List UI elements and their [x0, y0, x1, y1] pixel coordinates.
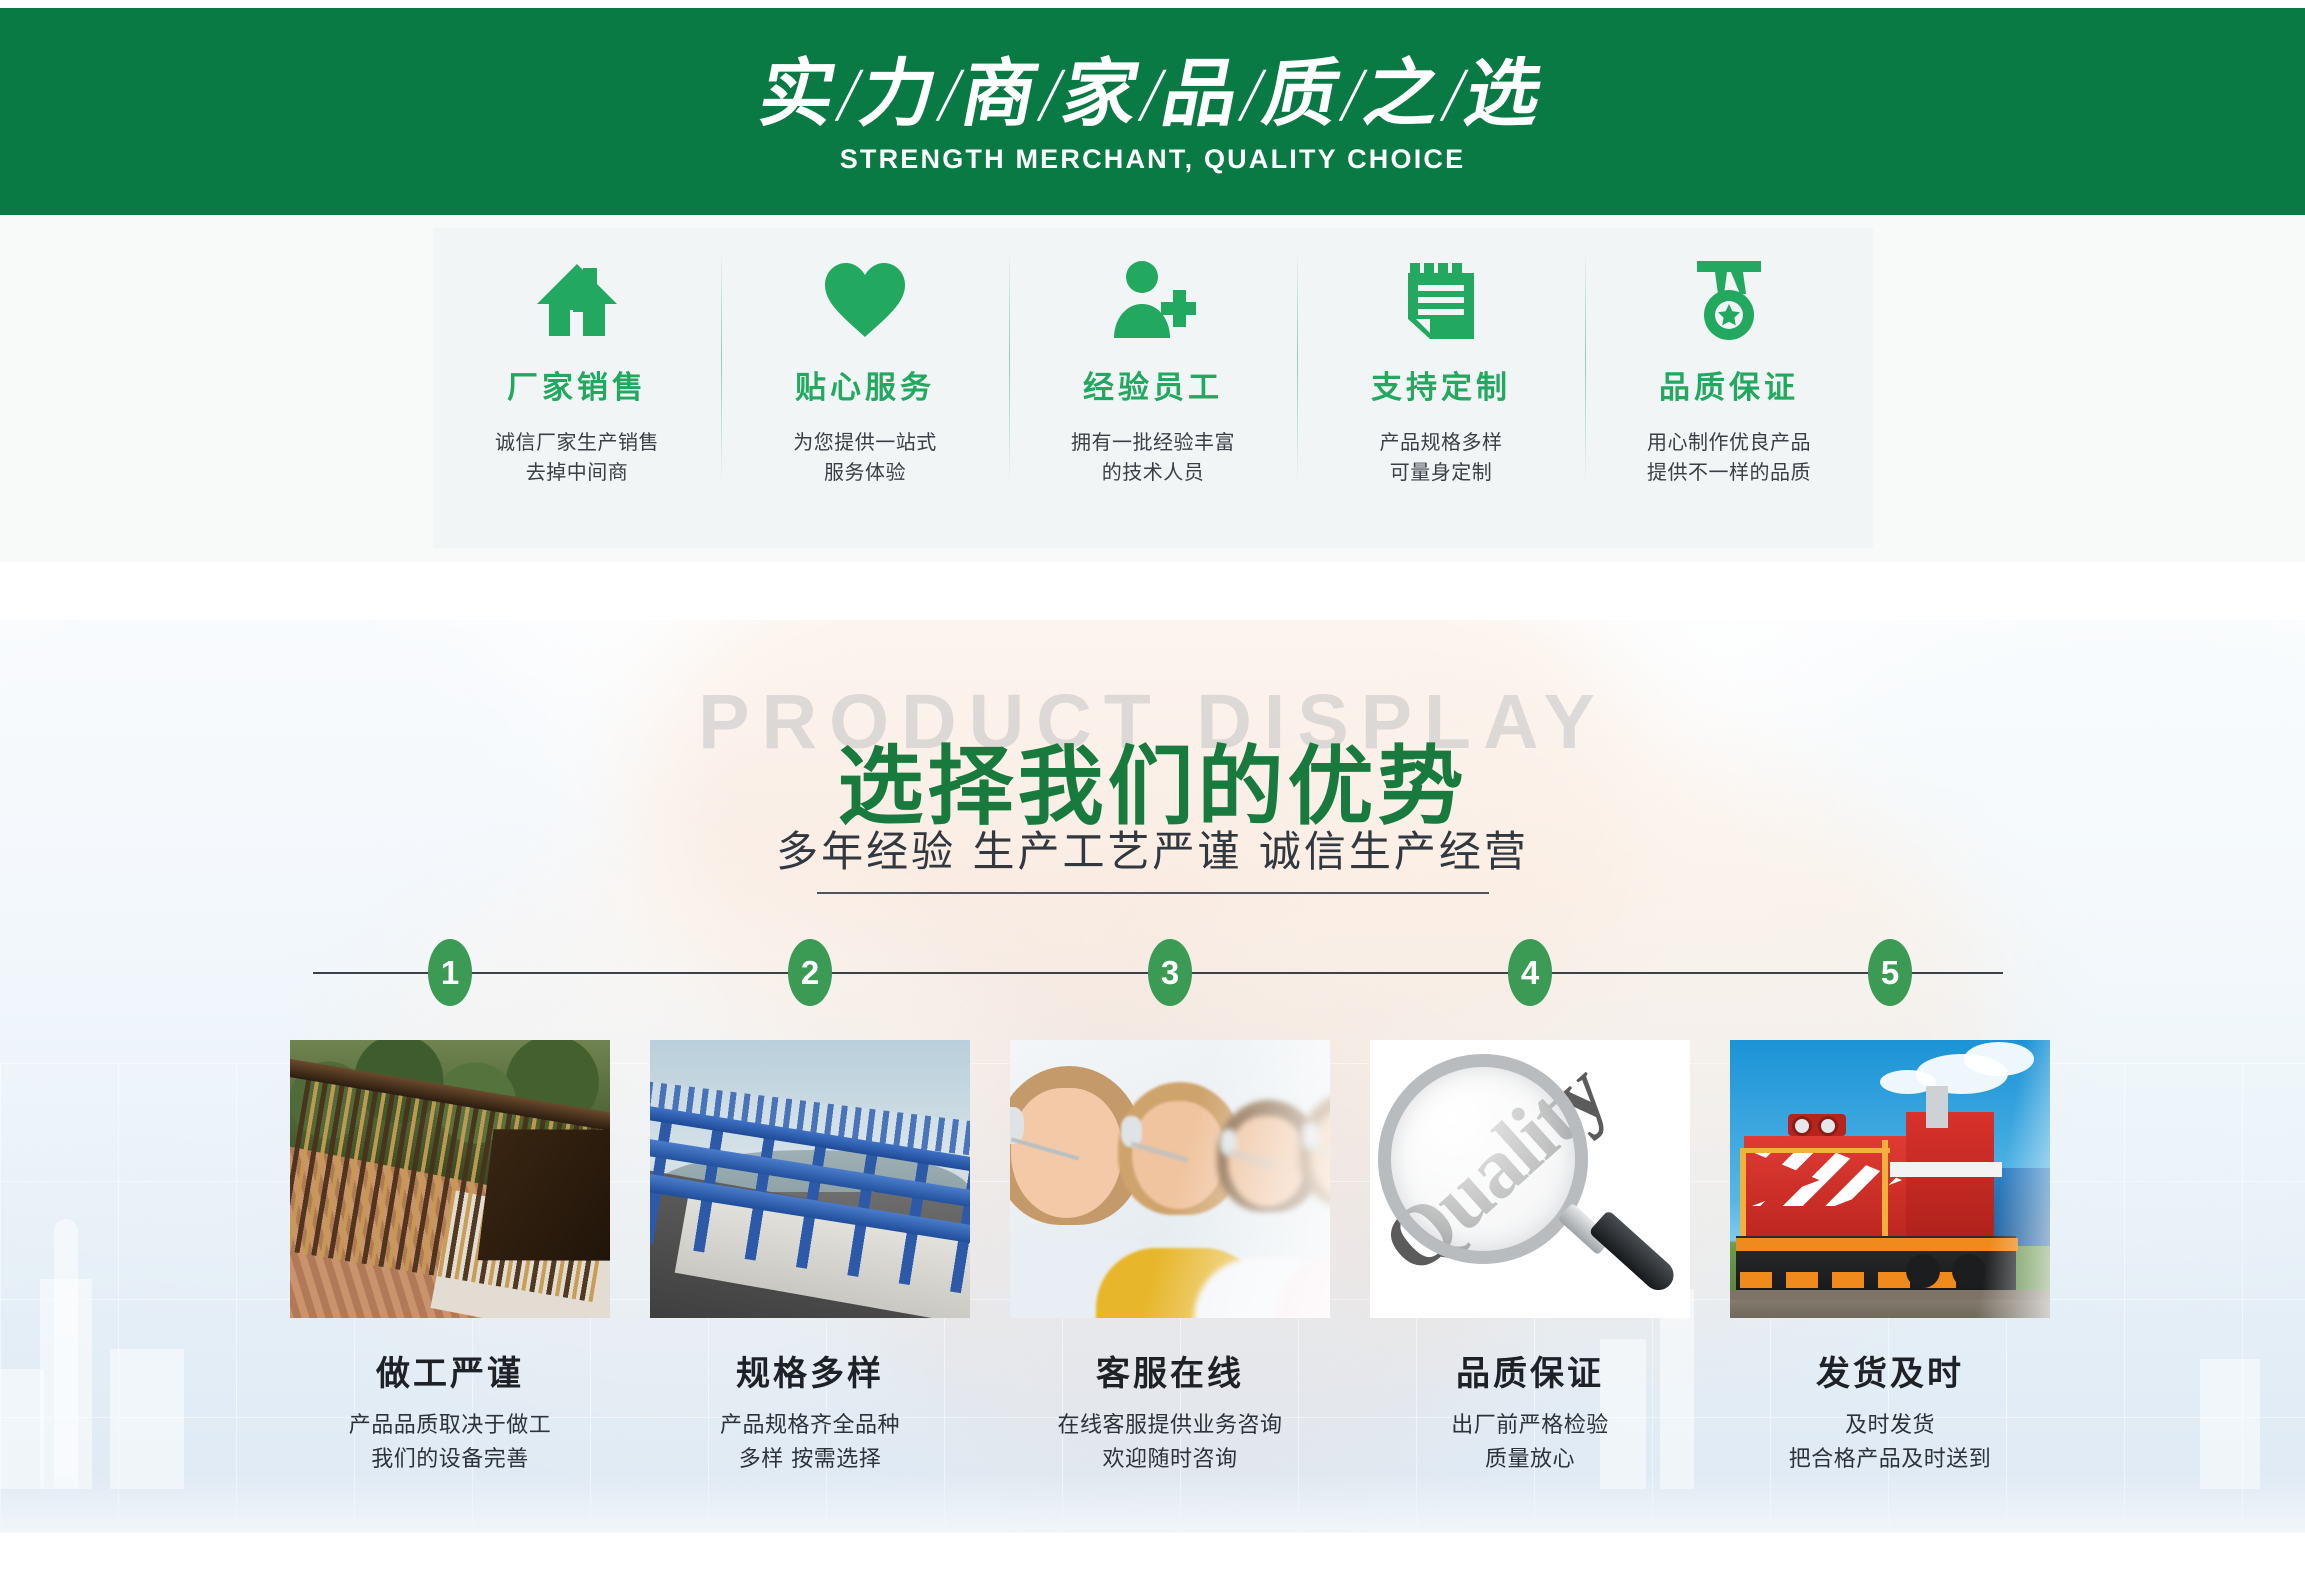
feature-item-2: 贴心服务为您提供一站式服务体验 [721, 228, 1009, 548]
feature-description: 拥有一批经验丰富的技术人员 [1071, 427, 1235, 488]
advantages-subtitle: 多年经验 生产工艺严谨 诚信生产经营 [0, 818, 2305, 879]
feature-item-4: 支持定制产品规格多样可量身定制 [1297, 228, 1585, 548]
feature-desc-line-1: 产品规格多样 [1380, 430, 1503, 454]
call-center-agents-photo[interactable] [1010, 1040, 1330, 1318]
card-desc-line-2: 我们的设备完善 [371, 1447, 529, 1472]
bridge-railing-artwork [290, 1040, 610, 1318]
card-description: 产品规格齐全品种多样 按需选择 [650, 1409, 970, 1477]
feature-desc-line-2: 的技术人员 [1102, 460, 1205, 484]
advantage-card-1[interactable]: 做工严谨产品品质取决于做工我们的设备完善 [290, 1040, 610, 1477]
card-desc-line-1: 出厂前严格检验 [1451, 1413, 1609, 1438]
card-description: 及时发货把合格产品及时送到 [1730, 1409, 2050, 1477]
card-description: 产品品质取决于做工我们的设备完善 [290, 1409, 610, 1477]
feature-title: 支持定制 [1371, 362, 1511, 407]
feature-title: 经验员工 [1083, 362, 1223, 407]
card-desc-line-2: 欢迎随时咨询 [1102, 1447, 1237, 1472]
medal-icon [1689, 260, 1769, 340]
feature-desc-line-2: 服务体验 [824, 460, 906, 484]
features-panel: 厂家销售诚信厂家生产销售去掉中间商贴心服务为您提供一站式服务体验经验员工拥有一批… [433, 228, 1873, 548]
feature-item-3: 经验员工拥有一批经验丰富的技术人员 [1009, 228, 1297, 548]
feature-item-5: 品质保证用心制作优良产品提供不一样的品质 [1585, 228, 1873, 548]
advantage-card-4[interactable]: Quality品质保证出厂前严格检验质量放心 [1370, 1040, 1690, 1477]
card-desc-line-1: 产品品质取决于做工 [349, 1413, 552, 1438]
card-desc-line-2: 质量放心 [1485, 1447, 1575, 1472]
feature-desc-line-1: 用心制作优良产品 [1647, 430, 1811, 454]
feature-desc-line-1: 诚信厂家生产销售 [495, 430, 659, 454]
quality-magnifier-artwork: Quality [1370, 1040, 1690, 1318]
page-subtitle-english: STRENGTH MERCHANT, QUALITY CHOICE [0, 144, 2305, 175]
blue-guardrail-artwork [650, 1040, 970, 1318]
call-center-artwork [1010, 1040, 1330, 1318]
card-desc-line-2: 多样 按需选择 [739, 1447, 882, 1472]
card-desc-line-2: 把合格产品及时送到 [1789, 1447, 1992, 1472]
feature-description: 用心制作优良产品提供不一样的品质 [1647, 427, 1811, 488]
house-icon [535, 260, 619, 340]
heart-icon [823, 260, 907, 340]
page-title: 实/力/商/家/品/质/之/选 [0, 34, 2305, 141]
card-title: 做工严谨 [290, 1346, 610, 1395]
feature-item-1: 厂家销售诚信厂家生产销售去掉中间商 [433, 228, 721, 548]
red-freight-locomotive-photo[interactable] [1730, 1040, 2050, 1318]
notepad-icon [1406, 260, 1476, 340]
timeline-node-1[interactable]: 1 [428, 939, 472, 1006]
card-description: 在线客服提供业务咨询欢迎随时咨询 [1010, 1409, 1330, 1477]
advantages-underline [817, 892, 1489, 894]
feature-desc-line-1: 拥有一批经验丰富 [1071, 430, 1235, 454]
advantage-card-2[interactable]: 规格多样产品规格齐全品种多样 按需选择 [650, 1040, 970, 1477]
user-plus-icon [1110, 260, 1196, 340]
timeline-node-2[interactable]: 2 [788, 939, 832, 1006]
card-title: 规格多样 [650, 1346, 970, 1395]
feature-desc-line-2: 可量身定制 [1390, 460, 1493, 484]
feature-description: 诚信厂家生产销售去掉中间商 [495, 427, 659, 488]
feature-desc-line-1: 为您提供一站式 [793, 430, 937, 454]
feature-description: 产品规格多样可量身定制 [1380, 427, 1503, 488]
feature-description: 为您提供一站式服务体验 [793, 427, 937, 488]
card-desc-line-1: 及时发货 [1845, 1413, 1935, 1438]
feature-title: 品质保证 [1659, 362, 1799, 407]
title-char: 选 [1458, 34, 1554, 141]
card-desc-line-1: 在线客服提供业务咨询 [1057, 1413, 1282, 1438]
advantage-card-5[interactable]: 发货及时及时发货把合格产品及时送到 [1730, 1040, 2050, 1477]
card-title: 客服在线 [1010, 1346, 1330, 1395]
timeline-node-5[interactable]: 5 [1868, 939, 1912, 1006]
feature-title: 贴心服务 [795, 362, 935, 407]
card-title: 发货及时 [1730, 1346, 2050, 1395]
card-description: 出厂前严格检验质量放心 [1370, 1409, 1690, 1477]
card-desc-line-1: 产品规格齐全品种 [720, 1413, 900, 1438]
timeline-node-4[interactable]: 4 [1508, 939, 1552, 1006]
bronze-bridge-railing-photo[interactable] [290, 1040, 610, 1318]
quality-magnifier-photo[interactable]: Quality [1370, 1040, 1690, 1318]
timeline-node-3[interactable]: 3 [1148, 939, 1192, 1006]
feature-desc-line-2: 提供不一样的品质 [1647, 460, 1811, 484]
blue-bridge-guardrail-photo[interactable] [650, 1040, 970, 1318]
advantage-card-3[interactable]: 客服在线在线客服提供业务咨询欢迎随时咨询 [1010, 1040, 1330, 1477]
feature-title: 厂家销售 [507, 362, 647, 407]
header-green-band: 实/力/商/家/品/质/之/选 STRENGTH MERCHANT, QUALI… [0, 8, 2305, 215]
locomotive-artwork [1730, 1040, 2050, 1318]
feature-desc-line-2: 去掉中间商 [526, 460, 629, 484]
card-title: 品质保证 [1370, 1346, 1690, 1395]
